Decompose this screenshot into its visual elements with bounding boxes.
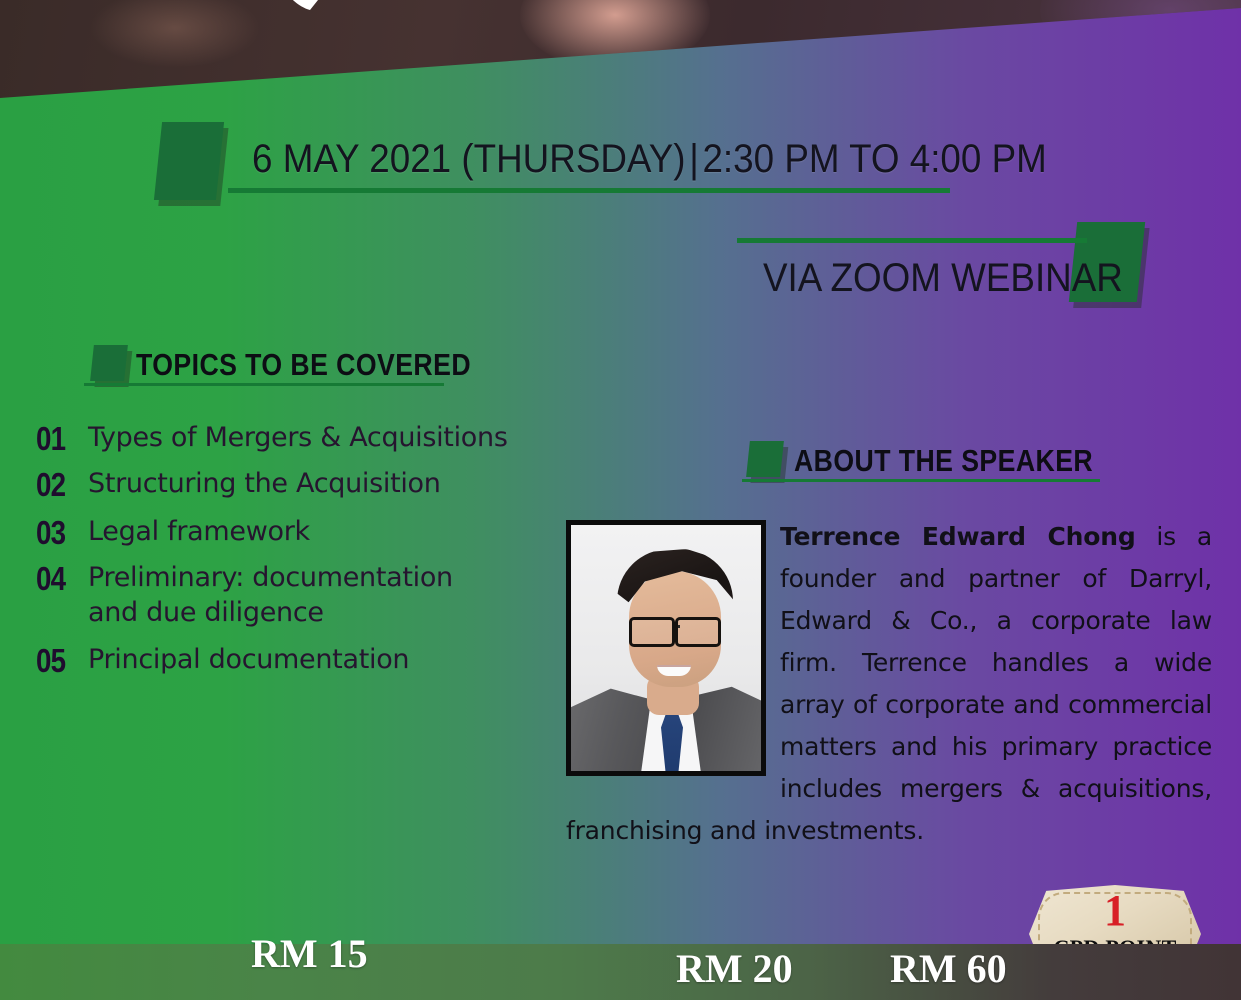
price-tier-3: RM 60 xyxy=(890,945,1007,992)
datetime-separator: | xyxy=(686,137,703,181)
list-item: 03 Legal framework xyxy=(36,514,556,552)
price-tier-1: RM 15 xyxy=(251,930,368,977)
topics-underline-rule xyxy=(84,383,444,386)
list-item: 04 Preliminary: documentation and due di… xyxy=(36,560,556,630)
event-platform: VIA ZOOM WEBINAR xyxy=(763,256,1123,301)
portrait-glasses-icon xyxy=(627,617,723,643)
speaker-heading: ABOUT THE SPEAKER xyxy=(794,443,1093,479)
list-item: 01 Types of Mergers & Acquisitions xyxy=(36,420,556,458)
topic-number: 04 xyxy=(36,560,80,598)
glasses-lens-left xyxy=(629,617,675,647)
event-date: 6 MAY 2021 (THURSDAY) xyxy=(252,137,686,181)
phone-icon xyxy=(272,0,322,14)
topics-accent-chip xyxy=(90,345,128,381)
event-time: 2:30 PM TO 4:00 PM xyxy=(702,137,1046,181)
date-underline-rule xyxy=(228,188,950,193)
list-item: 02 Structuring the Acquisition xyxy=(36,466,556,504)
speaker-name: Terrence Edward Chong xyxy=(780,522,1136,551)
pricing-bar: RM 15 RM 20 RM 60 xyxy=(0,944,1241,1000)
banner-blur-center xyxy=(520,0,710,70)
event-datetime: 6 MAY 2021 (THURSDAY)|2:30 PM TO 4:00 PM xyxy=(252,137,1047,182)
topics-heading: TOPICS TO BE COVERED xyxy=(136,347,471,383)
banner-blur-right xyxy=(1040,0,1241,70)
avatar xyxy=(566,520,766,776)
topic-number: 05 xyxy=(36,642,80,680)
topic-label: Structuring the Acquisition xyxy=(88,466,556,501)
topic-label: Legal framework xyxy=(88,514,556,549)
price-tier-2: RM 20 xyxy=(676,945,793,992)
topic-label: Types of Mergers & Acquisitions xyxy=(88,420,556,455)
topic-label: Principal documentation xyxy=(88,642,556,677)
speaker-accent-chip xyxy=(746,441,784,477)
glasses-lens-right xyxy=(675,617,721,647)
platform-underline-rule xyxy=(737,238,1087,243)
webinar-poster: 6 MAY 2021 (THURSDAY)|2:30 PM TO 4:00 PM… xyxy=(0,0,1241,1000)
topic-number: 02 xyxy=(36,466,80,504)
topic-label: Preliminary: documentation and due dilig… xyxy=(88,560,488,630)
topics-list: 01 Types of Mergers & Acquisitions 02 St… xyxy=(36,420,556,688)
date-accent-chip xyxy=(154,122,224,200)
topic-number: 03 xyxy=(36,514,80,552)
speaker-underline-rule xyxy=(742,479,1100,482)
cpd-point-count: 1 xyxy=(1029,889,1201,933)
top-banner-image xyxy=(0,0,1241,100)
topic-number: 01 xyxy=(36,420,80,458)
banner-blur-left xyxy=(90,0,260,68)
list-item: 05 Principal documentation xyxy=(36,642,556,680)
speaker-block: Terrence Edward Chong is a founder and p… xyxy=(566,516,1212,852)
